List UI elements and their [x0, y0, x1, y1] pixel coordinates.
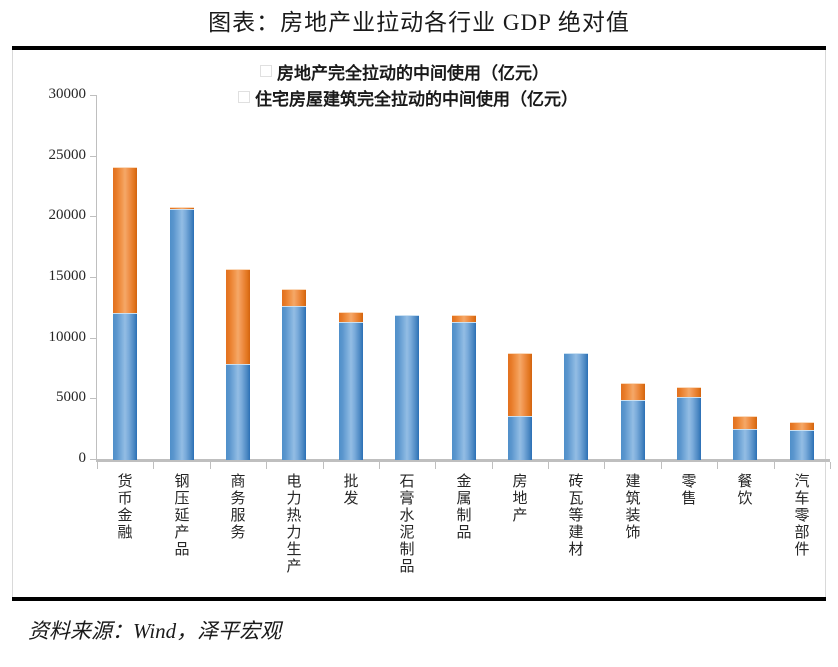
x-axis-category-label: 零售: [677, 474, 701, 508]
y-axis-tick-label: 0: [13, 450, 86, 467]
x-axis-tick: [548, 462, 549, 469]
bar-column[interactable]: [564, 50, 588, 459]
x-axis-tick: [153, 462, 154, 469]
bar-column[interactable]: [508, 50, 532, 459]
bar-segment-residential-construction[interactable]: [226, 364, 250, 460]
bar-column[interactable]: [113, 50, 137, 459]
bar-column[interactable]: [339, 50, 363, 459]
bar-column[interactable]: [226, 50, 250, 459]
plot-area: 050001000015000200002500030000 货币金融钢压延产品…: [13, 50, 825, 597]
x-axis-category-label: 货币金融: [113, 474, 137, 542]
chart-panel: 房地产完全拉动的中间使用（亿元） 住宅房屋建筑完全拉动的中间使用（亿元） 050…: [12, 50, 826, 598]
x-axis-tick: [210, 462, 211, 469]
x-axis-tick: [830, 462, 831, 469]
x-axis-tick: [604, 462, 605, 469]
bar-segment-real-estate[interactable]: [733, 416, 757, 430]
page-title: 图表：房地产业拉动各行业 GDP 绝对值: [0, 0, 838, 44]
bar-segment-residential-construction[interactable]: [508, 416, 532, 460]
bar-column[interactable]: [452, 50, 476, 459]
y-axis-tick: [90, 95, 97, 96]
chart-title-container: 图表：房地产业拉动各行业 GDP 绝对值: [0, 0, 838, 50]
x-axis-category-label: 钢压延产品: [170, 474, 194, 559]
x-axis-category-label: 餐饮: [733, 474, 757, 508]
y-axis-tick-label: 5000: [13, 389, 86, 406]
x-axis-tick: [97, 462, 98, 469]
bar-segment-residential-construction[interactable]: [621, 400, 645, 460]
y-axis-tick-label: 20000: [13, 207, 86, 224]
bar-segment-residential-construction[interactable]: [282, 306, 306, 460]
x-axis-category-label: 石膏水泥制品: [395, 474, 419, 576]
y-axis-tick-label: 10000: [13, 329, 86, 346]
x-axis-tick: [323, 462, 324, 469]
x-axis-tick: [661, 462, 662, 469]
y-axis-tick: [90, 398, 97, 399]
bar-segment-residential-construction[interactable]: [395, 315, 419, 460]
y-axis-tick-label: 15000: [13, 268, 86, 285]
bar-column[interactable]: [395, 50, 419, 459]
y-axis-tick: [90, 216, 97, 217]
x-axis-tick: [435, 462, 436, 469]
y-axis-tick-label: 30000: [13, 86, 86, 103]
x-axis-tick: [717, 462, 718, 469]
y-axis-tick: [90, 156, 97, 157]
bar-segment-real-estate[interactable]: [621, 383, 645, 401]
y-axis-tick: [90, 459, 97, 460]
source-note: 资料来源：Wind，泽平宏观: [0, 601, 838, 645]
x-axis-category-label: 砖瓦等建材: [564, 474, 588, 559]
x-axis-tick: [266, 462, 267, 469]
x-axis-category-label: 商务服务: [226, 474, 250, 542]
bar-column[interactable]: [677, 50, 701, 459]
source-note-container: 资料来源：Wind，泽平宏观: [0, 597, 838, 667]
bar-segment-residential-construction[interactable]: [170, 209, 194, 460]
x-axis-category-label: 金属制品: [452, 474, 476, 542]
bar-column[interactable]: [282, 50, 306, 459]
y-axis-tick: [90, 338, 97, 339]
bar-segment-residential-construction[interactable]: [339, 322, 363, 460]
x-axis-category-label: 批发: [339, 474, 363, 508]
bar-column[interactable]: [621, 50, 645, 459]
y-axis-tick-label: 25000: [13, 147, 86, 164]
bar-segment-residential-construction[interactable]: [733, 429, 757, 460]
x-axis-category-label: 房地产: [508, 474, 532, 525]
bar-segment-residential-construction[interactable]: [564, 353, 588, 460]
x-axis-category-label: 建筑装饰: [621, 474, 645, 542]
x-axis-tick: [492, 462, 493, 469]
bar-column[interactable]: [170, 50, 194, 459]
x-axis-category-label: 电力热力生产: [282, 474, 306, 576]
bar-segment-real-estate[interactable]: [113, 167, 137, 314]
bar-segment-real-estate[interactable]: [282, 289, 306, 307]
bar-column[interactable]: [790, 50, 814, 459]
bar-segment-residential-construction[interactable]: [113, 313, 137, 460]
bar-segment-residential-construction[interactable]: [452, 322, 476, 460]
bar-segment-residential-construction[interactable]: [677, 397, 701, 460]
y-axis-tick: [90, 277, 97, 278]
bar-segment-real-estate[interactable]: [508, 353, 532, 417]
bar-segment-real-estate[interactable]: [226, 269, 250, 366]
bar-column[interactable]: [733, 50, 757, 459]
x-axis-tick: [774, 462, 775, 469]
x-axis-category-label: 汽车零部件: [790, 474, 814, 559]
x-axis-tick: [379, 462, 380, 469]
bar-segment-residential-construction[interactable]: [790, 430, 814, 460]
